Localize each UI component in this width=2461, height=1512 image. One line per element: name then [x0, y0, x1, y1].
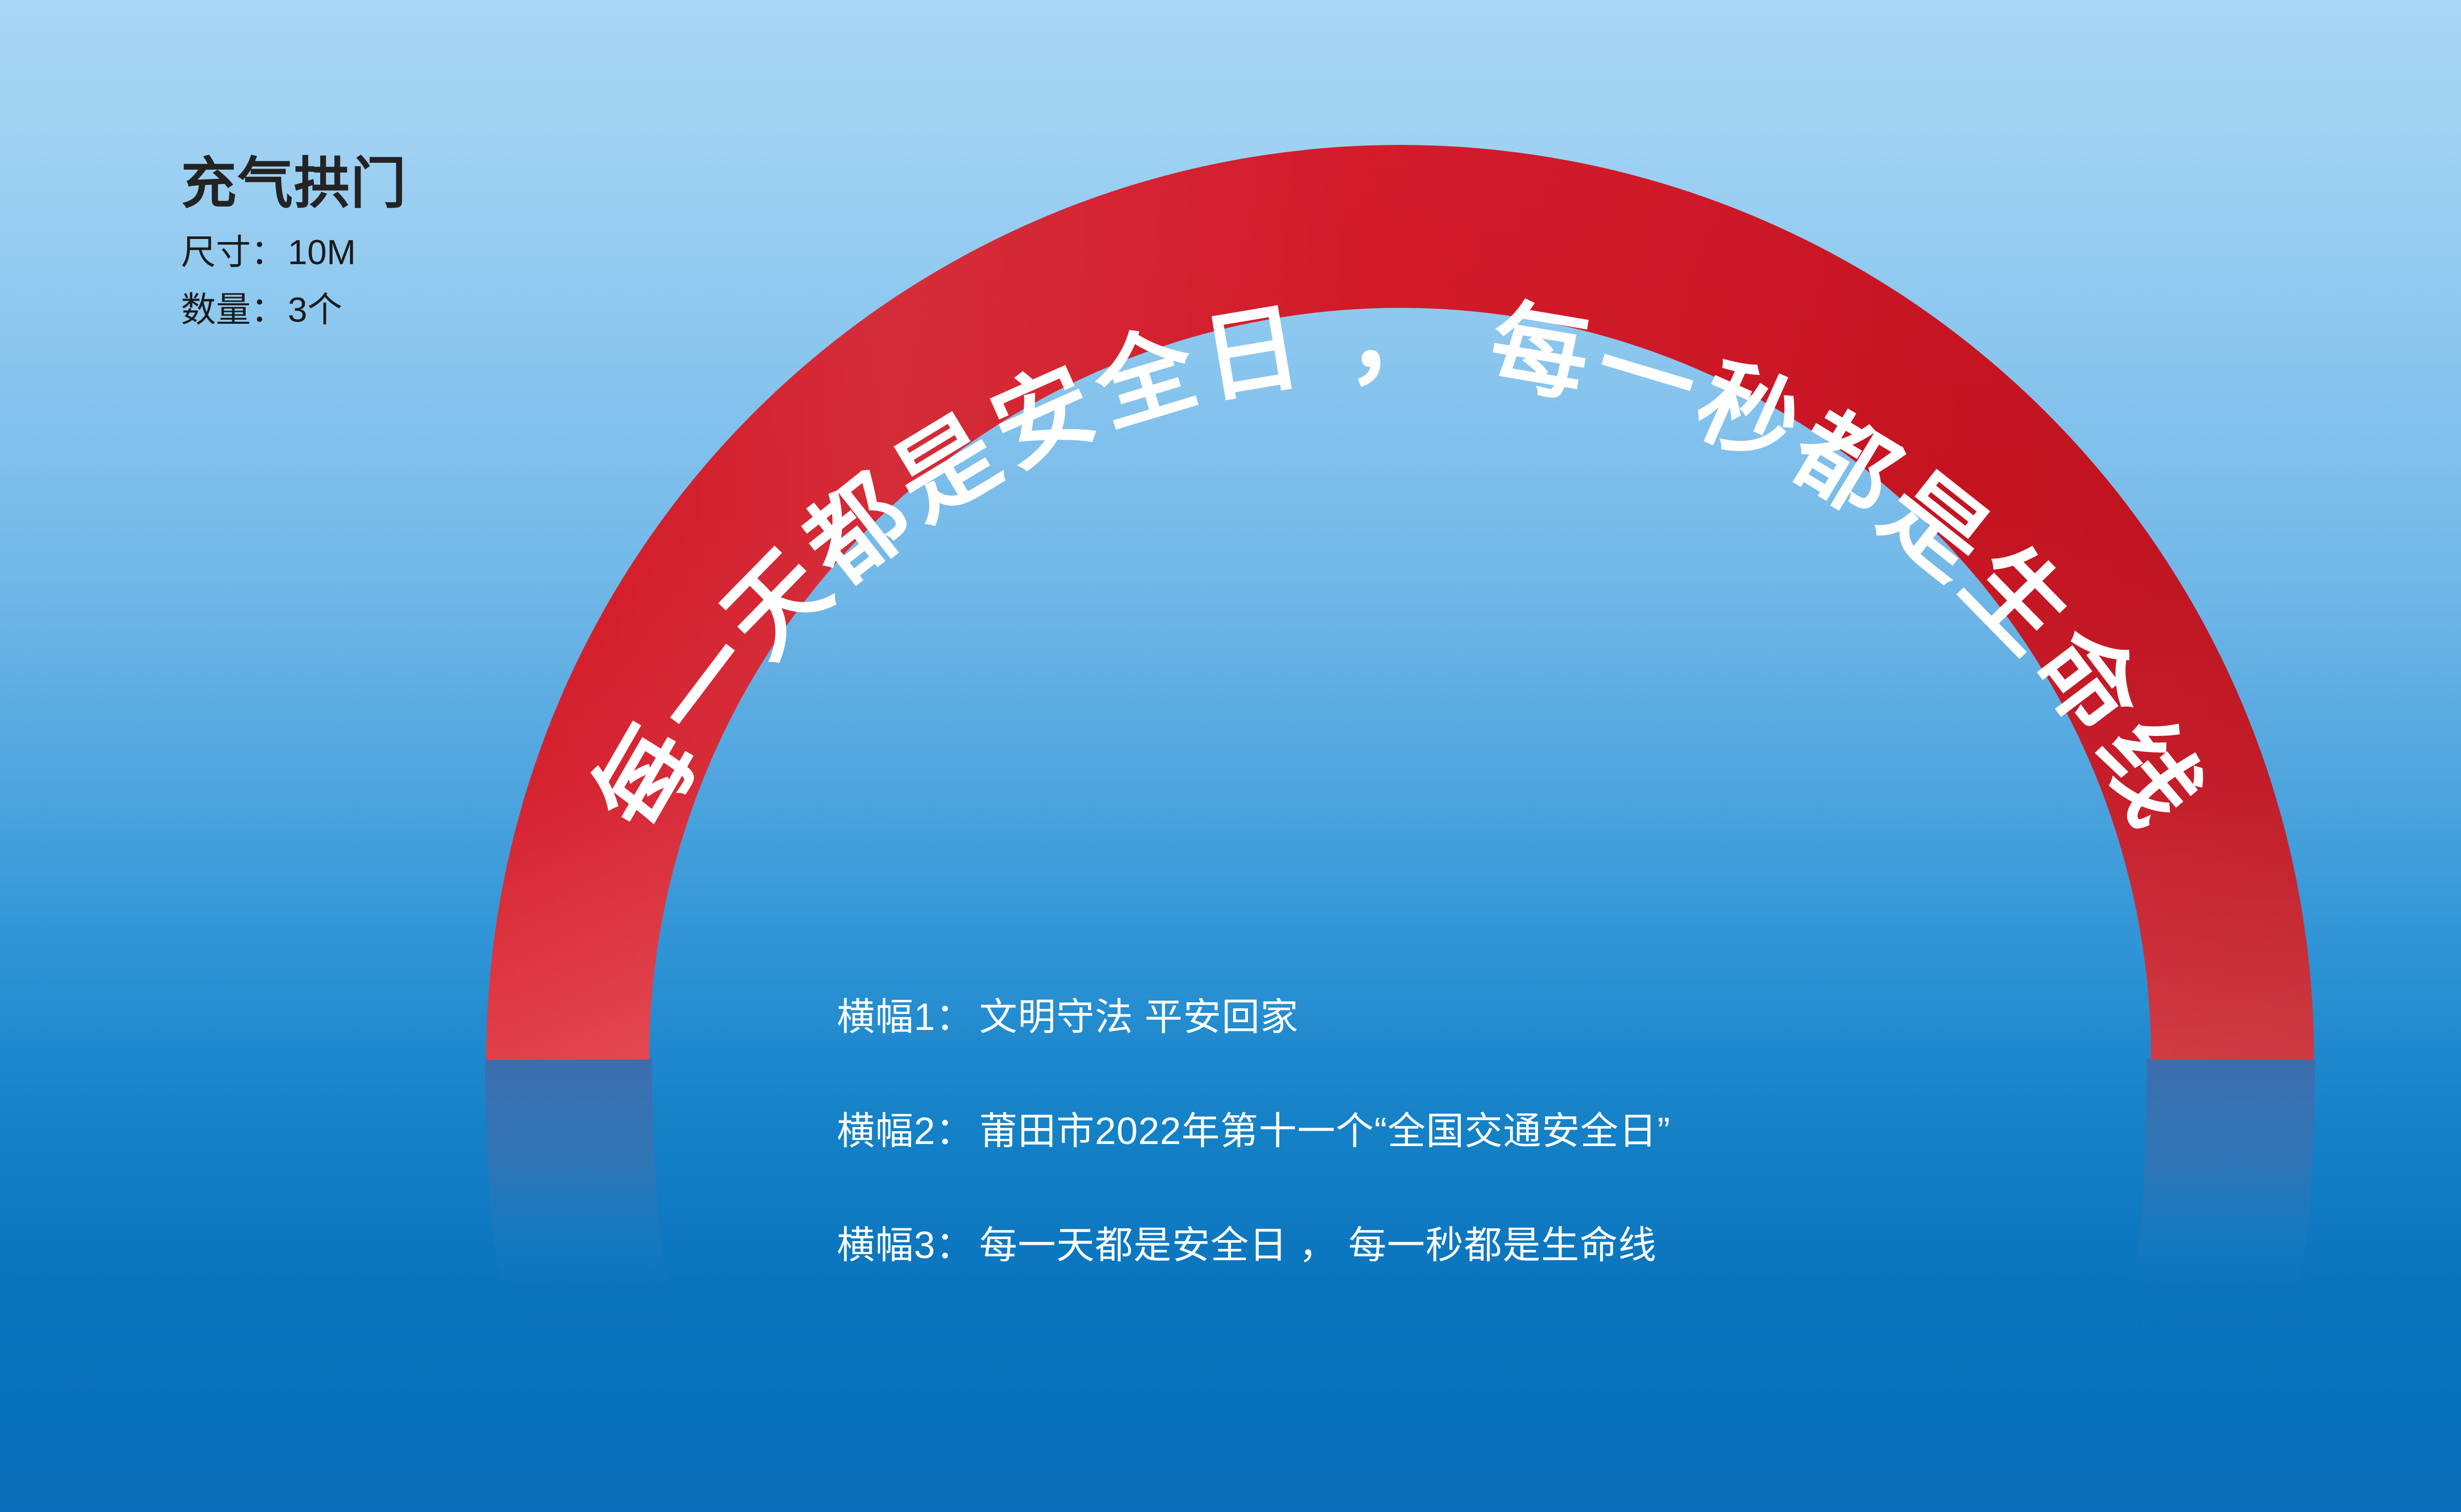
banner-label-2: 横幅2	[837, 1110, 935, 1152]
banner-text-2: 莆田市2022年第十一个“全国交通安全日”	[979, 1110, 1670, 1152]
banner-text-3: 每一天都是安全日 ， 每一秒都是生命线	[979, 1224, 1657, 1266]
banner-label-1: 横幅1	[837, 995, 935, 1038]
spec-value-quantity: 3个	[288, 290, 342, 329]
spec-row-quantity: 数量：3个	[181, 292, 407, 327]
banner-colon-1: ：	[935, 995, 974, 1038]
spec-row-size: 尺寸：10M	[181, 235, 407, 270]
poster-canvas: 充气拱门 尺寸：10M 数量：3个	[0, 0, 2461, 1512]
spec-label-size: 尺寸：	[181, 233, 286, 272]
banner-text-1: 文明守法 平安回家	[979, 995, 1299, 1038]
banner-row-2: 横幅2：莆田市2022年第十一个“全国交通安全日”	[837, 1112, 1670, 1150]
banner-colon-3: ：	[935, 1224, 974, 1266]
banner-list: 横幅1：文明守法 平安回家 横幅2：莆田市2022年第十一个“全国交通安全日” …	[837, 998, 1670, 1264]
banner-colon-2: ：	[935, 1110, 974, 1152]
banner-row-1: 横幅1：文明守法 平安回家	[837, 998, 1670, 1036]
banner-row-3: 横幅3：每一天都是安全日 ， 每一秒都是生命线	[837, 1226, 1670, 1264]
spec-value-size: 10M	[288, 233, 356, 272]
spec-label-quantity: 数量：	[181, 290, 286, 329]
page-title: 充气拱门	[181, 154, 407, 212]
banner-label-3: 横幅3	[837, 1224, 935, 1266]
product-info-block: 充气拱门 尺寸：10M 数量：3个	[181, 154, 407, 327]
